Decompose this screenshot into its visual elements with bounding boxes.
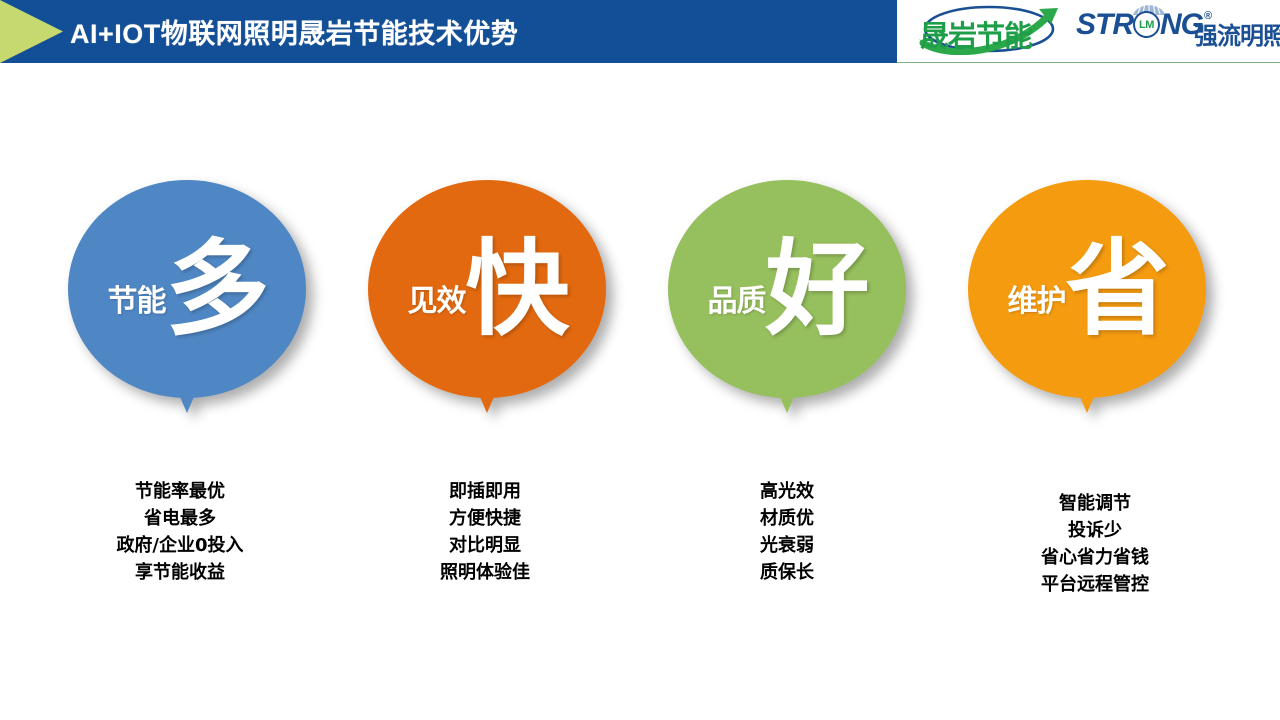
balloon-maintenance[interactable]: 维护省 <box>968 180 1213 430</box>
bullet-line: 享节能收益 <box>30 559 330 586</box>
balloon-maintenance-big-label: 省 <box>1065 237 1166 341</box>
balloon-speed[interactable]: 见效快 <box>368 180 613 430</box>
balloon-quality-small-label: 品质 <box>707 287 765 317</box>
bullet-line: 投诉少 <box>945 517 1245 544</box>
brand-name-cn-blue: 强流明照明 <box>1194 16 1280 51</box>
balloon-quality-big-label: 好 <box>765 237 866 341</box>
bullet-line: 方便快捷 <box>335 505 635 532</box>
bullet-line: 材质优 <box>637 505 937 532</box>
bullet-line: 政府/企业0投入 <box>30 532 330 559</box>
balloon-energy-small-label: 节能 <box>107 287 165 317</box>
bullets-quality: 高光效材质优光衰弱质保长 <box>637 478 937 586</box>
balloon-quality-shape: 品质好 <box>668 180 906 398</box>
balloon-speed-big-label: 快 <box>465 237 566 341</box>
balloon-maintenance-label-group: 维护省 <box>968 180 1206 398</box>
bullet-line: 即插即用 <box>335 478 635 505</box>
bullet-line: 对比明显 <box>335 532 635 559</box>
lm-mark-label: LM <box>1139 19 1154 31</box>
balloon-energy-label-group: 节能多 <box>68 180 306 398</box>
slide-canvas: AI+IOT物联网照明晟岩节能技术优势 晟岩节能 STR LM <box>0 0 1280 720</box>
balloon-maintenance-small-label: 维护 <box>1007 287 1065 317</box>
bullet-line: 智能调节 <box>945 490 1245 517</box>
balloon-speed-shape: 见效快 <box>368 180 606 398</box>
balloon-energy-shape: 节能多 <box>68 180 306 398</box>
bullets-maintenance: 智能调节投诉少省心省力省钱平台远程管控 <box>945 490 1245 598</box>
balloon-speed-label-group: 见效快 <box>368 180 606 398</box>
bullets-energy: 节能率最优省电最多政府/企业0投入享节能收益 <box>30 478 330 586</box>
bullet-line: 质保长 <box>637 559 937 586</box>
brand-name-cn-green: 晟岩节能 <box>920 13 1032 55</box>
bullets-speed: 即插即用方便快捷对比明显照明体验佳 <box>335 478 635 586</box>
balloon-maintenance-shape: 维护省 <box>968 180 1206 398</box>
balloon-speed-small-label: 见效 <box>407 287 465 317</box>
bullet-line: 高光效 <box>637 478 937 505</box>
brand-strong-prefix: STR <box>1076 10 1133 40</box>
balloon-quality[interactable]: 品质好 <box>668 180 913 430</box>
brand-logo: 晟岩节能 STR LM NG ® 强流明照明 <box>897 0 1280 63</box>
bullet-line: 光衰弱 <box>637 532 937 559</box>
balloon-energy-big-label: 多 <box>165 237 266 341</box>
brand-name-strong: STR LM NG ® <box>1076 10 1212 40</box>
brand-logo-inner: 晟岩节能 STR LM NG ® 强流明照明 <box>898 0 1280 63</box>
bullet-line: 省心省力省钱 <box>945 544 1245 571</box>
bullet-line: 省电最多 <box>30 505 330 532</box>
page-title: AI+IOT物联网照明晟岩节能技术优势 <box>70 0 518 63</box>
bullet-line: 照明体验佳 <box>335 559 635 586</box>
lm-circle-icon: LM <box>1133 11 1160 38</box>
bullet-line: 节能率最优 <box>30 478 330 505</box>
balloon-energy[interactable]: 节能多 <box>68 180 313 430</box>
balloon-quality-label-group: 品质好 <box>668 180 906 398</box>
bullet-line: 平台远程管控 <box>945 571 1245 598</box>
